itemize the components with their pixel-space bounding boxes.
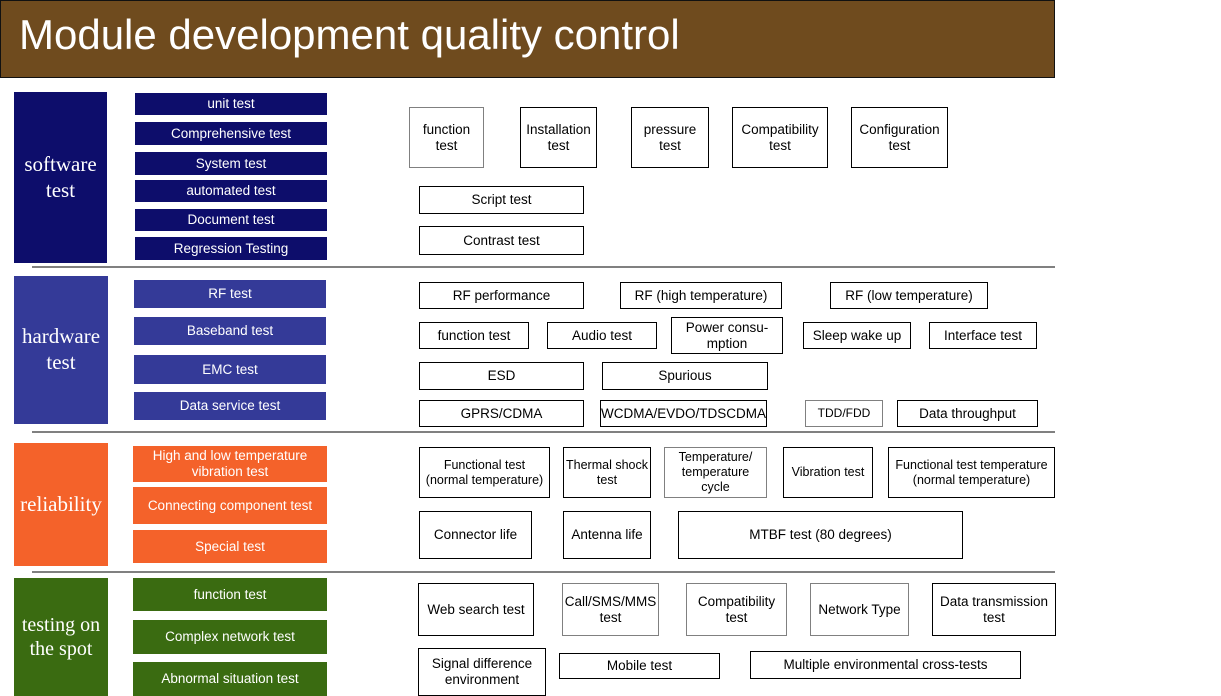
- bar-software-3[interactable]: automated test: [135, 180, 327, 202]
- box-software-installation-test[interactable]: Installation test: [520, 107, 597, 168]
- bar-hardware-3[interactable]: Data service test: [134, 392, 326, 420]
- bar-reliability-0[interactable]: High and low temperature vibration test: [133, 446, 327, 482]
- box-hardware-gprs-cdma[interactable]: GPRS/CDMA: [419, 400, 584, 427]
- category-hardware-test-label: hardware test: [22, 324, 100, 375]
- box-hardware-power-consumption[interactable]: Power consu-mption: [671, 317, 783, 354]
- box-hardware-spurious[interactable]: Spurious: [602, 362, 768, 390]
- box-software-pressure-test[interactable]: pressure test: [631, 107, 709, 168]
- bar-hardware-2[interactable]: EMC test: [134, 355, 326, 384]
- box-reliability-thermal-shock-test[interactable]: Thermal shock test: [563, 447, 651, 498]
- bar-software-2[interactable]: System test: [135, 152, 327, 175]
- box-spot-compatibility-test[interactable]: Compatibility test: [686, 583, 787, 636]
- box-reliability-connector-life[interactable]: Connector life: [419, 511, 532, 559]
- bar-reliability-1[interactable]: Connecting component test: [133, 487, 327, 524]
- bar-reliability-2[interactable]: Special test: [133, 530, 327, 563]
- box-reliability-mtbf-test[interactable]: MTBF test (80 degrees): [678, 511, 963, 559]
- category-hardware-test[interactable]: hardware test: [14, 276, 108, 424]
- box-reliability-functional-test-normal[interactable]: Functional test (normal temperature): [419, 447, 550, 498]
- box-reliability-functional-test-temperature[interactable]: Functional test temperature (normal temp…: [888, 447, 1055, 498]
- box-software-function-test[interactable]: function test: [409, 107, 484, 168]
- bar-software-4[interactable]: Document test: [135, 209, 327, 231]
- bar-hardware-1[interactable]: Baseband test: [134, 317, 326, 345]
- box-reliability-temperature-cycle[interactable]: Temperature/ temperature cycle: [664, 447, 767, 498]
- box-hardware-data-throughput[interactable]: Data throughput: [897, 400, 1038, 427]
- box-hardware-function-test[interactable]: function test: [419, 322, 529, 349]
- box-spot-network-type[interactable]: Network Type: [810, 583, 909, 636]
- box-spot-mobile-test[interactable]: Mobile test: [559, 653, 720, 679]
- bar-software-0[interactable]: unit test: [135, 93, 327, 115]
- box-hardware-rf-high-temperature[interactable]: RF (high temperature): [620, 282, 782, 309]
- box-hardware-rf-low-temperature[interactable]: RF (low temperature): [830, 282, 988, 309]
- bar-spot-1[interactable]: Complex network test: [133, 620, 327, 654]
- box-spot-signal-difference-environment[interactable]: Signal difference environment: [418, 648, 546, 696]
- box-software-compatibility-test[interactable]: Compatibility test: [732, 107, 828, 168]
- category-testing-on-the-spot-label: testing on the spot: [22, 613, 100, 662]
- box-reliability-antenna-life[interactable]: Antenna life: [563, 511, 651, 559]
- bar-spot-2[interactable]: Abnormal situation test: [133, 662, 327, 696]
- box-hardware-rf-performance[interactable]: RF performance: [419, 282, 584, 309]
- slide-canvas: Module development quality control softw…: [0, 0, 1221, 696]
- bar-spot-0[interactable]: function test: [133, 578, 327, 611]
- box-reliability-vibration-test[interactable]: Vibration test: [783, 447, 873, 498]
- box-hardware-audio-test[interactable]: Audio test: [547, 322, 657, 349]
- box-software-contrast-test[interactable]: Contrast test: [419, 226, 584, 255]
- category-testing-on-the-spot[interactable]: testing on the spot: [14, 578, 108, 696]
- box-spot-data-transmission-test[interactable]: Data transmission test: [932, 583, 1056, 636]
- box-hardware-tdd-fdd[interactable]: TDD/FDD: [805, 400, 883, 427]
- category-software-test[interactable]: software test: [14, 92, 107, 263]
- section-separator-1: [32, 266, 1055, 268]
- box-hardware-interface-test[interactable]: Interface test: [929, 322, 1037, 349]
- box-spot-multiple-environmental-cross-tests[interactable]: Multiple environmental cross-tests: [750, 651, 1021, 679]
- box-hardware-wcdma-evdo-tdscdma[interactable]: WCDMA/EVDO/TDSCDMA: [600, 400, 767, 427]
- bar-software-5[interactable]: Regression Testing: [135, 237, 327, 260]
- box-software-script-test[interactable]: Script test: [419, 186, 584, 214]
- box-hardware-sleep-wake-up[interactable]: Sleep wake up: [803, 322, 911, 349]
- page-title: Module development quality control: [19, 11, 680, 59]
- box-hardware-esd[interactable]: ESD: [419, 362, 584, 390]
- bar-software-1[interactable]: Comprehensive test: [135, 122, 327, 145]
- box-software-configuration-test[interactable]: Configuration test: [851, 107, 948, 168]
- bar-hardware-0[interactable]: RF test: [134, 280, 326, 308]
- section-separator-3: [32, 571, 1055, 573]
- category-reliability-label: reliability: [20, 492, 102, 518]
- box-spot-call-sms-mms-test[interactable]: Call/SMS/MMS test: [562, 583, 659, 636]
- title-bar: Module development quality control: [0, 0, 1055, 78]
- box-spot-web-search-test[interactable]: Web search test: [418, 583, 534, 636]
- category-reliability[interactable]: reliability: [14, 443, 108, 566]
- category-software-test-label: software test: [24, 152, 96, 203]
- section-separator-2: [32, 431, 1055, 433]
